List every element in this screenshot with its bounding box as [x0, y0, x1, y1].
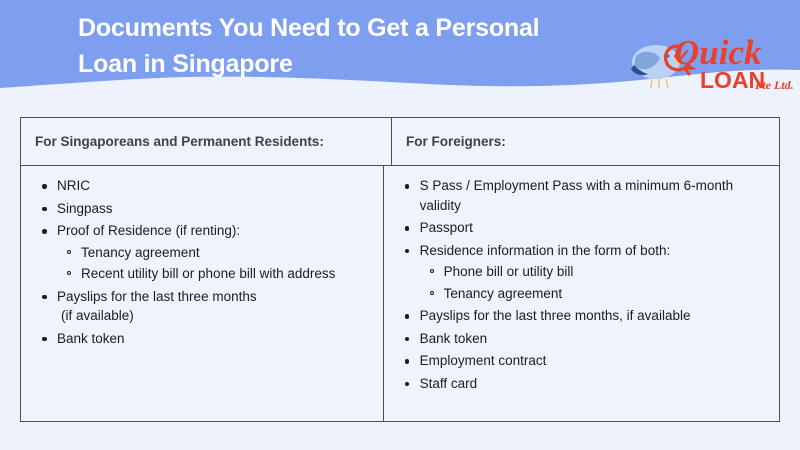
- page-title-line-2: Loan in Singapore: [78, 46, 598, 82]
- list-item-label: Staff card: [420, 374, 769, 394]
- cell-foreigners: S Pass / Employment Pass with a minimum …: [384, 166, 779, 421]
- page-title-line-1: Documents You Need to Get a Personal: [78, 10, 598, 46]
- sub-list-item-label: Recent utility bill or phone bill with a…: [81, 266, 335, 281]
- list-item: Proof of Residence (if renting): Tenancy…: [57, 221, 373, 284]
- list-item-label: Passport: [420, 218, 769, 238]
- residence-information-sublist: Phone bill or utility bill Tenancy agree…: [420, 262, 769, 303]
- column-header-singaporeans: For Singaporeans and Permanent Residents…: [21, 118, 391, 165]
- list-item: Residence information in the form of bot…: [420, 241, 769, 304]
- list-item-label: Employment contract: [420, 351, 769, 371]
- logo-wordmark: Quick LOAN Pte Ltd.: [666, 33, 794, 93]
- documents-table: For Singaporeans and Permanent Residents…: [20, 117, 780, 422]
- sub-list-item-label: Tenancy agreement: [81, 245, 200, 260]
- list-item-continuation: (if available): [57, 306, 373, 326]
- list-item: Staff card: [420, 374, 769, 394]
- sub-list-item-label: Phone bill or utility bill: [444, 264, 574, 279]
- list-item-label: Singpass: [57, 199, 373, 219]
- sub-list-item-label: Tenancy agreement: [444, 286, 563, 301]
- table-body-row: NRIC Singpass Proof of Residence (if ren…: [21, 166, 779, 421]
- column-header-foreigners: For Foreigners:: [392, 118, 779, 165]
- singaporeans-list: NRIC Singpass Proof of Residence (if ren…: [31, 176, 373, 348]
- foreigners-list: S Pass / Employment Pass with a minimum …: [394, 176, 769, 393]
- list-item: Passport: [420, 218, 769, 238]
- sub-list-item: Recent utility bill or phone bill with a…: [81, 264, 373, 284]
- list-item-label: S Pass / Employment Pass with a minimum …: [420, 176, 769, 215]
- sub-list-item: Phone bill or utility bill: [444, 262, 769, 282]
- list-item-label: Residence information in the form of bot…: [420, 241, 769, 261]
- svg-text:Pte Ltd.: Pte Ltd.: [755, 78, 794, 92]
- list-item: Bank token: [57, 329, 373, 349]
- page-title: Documents You Need to Get a Personal Loa…: [78, 10, 598, 82]
- sub-list-item: Tenancy agreement: [81, 243, 373, 263]
- sub-list-item: Tenancy agreement: [444, 284, 769, 304]
- table-header-row: For Singaporeans and Permanent Residents…: [21, 118, 779, 166]
- list-item-label: Payslips for the last three months: [57, 287, 373, 307]
- list-item: Bank token: [420, 329, 769, 349]
- list-item: Payslips for the last three months (if a…: [57, 287, 373, 326]
- list-item: Payslips for the last three months, if a…: [420, 306, 769, 326]
- list-item: Employment contract: [420, 351, 769, 371]
- list-item-label: Bank token: [57, 329, 373, 349]
- list-item: NRIC: [57, 176, 373, 196]
- list-item: Singpass: [57, 199, 373, 219]
- list-item-label: Proof of Residence (if renting):: [57, 221, 373, 241]
- cell-singaporeans: NRIC Singpass Proof of Residence (if ren…: [21, 166, 383, 421]
- header-banner: Documents You Need to Get a Personal Loa…: [0, 0, 800, 108]
- proof-of-residence-sublist: Tenancy agreement Recent utility bill or…: [57, 243, 373, 284]
- list-item-label: Bank token: [420, 329, 769, 349]
- list-item: S Pass / Employment Pass with a minimum …: [420, 176, 769, 215]
- list-item-label: Payslips for the last three months, if a…: [420, 306, 769, 326]
- list-item-label: NRIC: [57, 176, 373, 196]
- brand-logo: Quick LOAN Pte Ltd.: [612, 28, 798, 98]
